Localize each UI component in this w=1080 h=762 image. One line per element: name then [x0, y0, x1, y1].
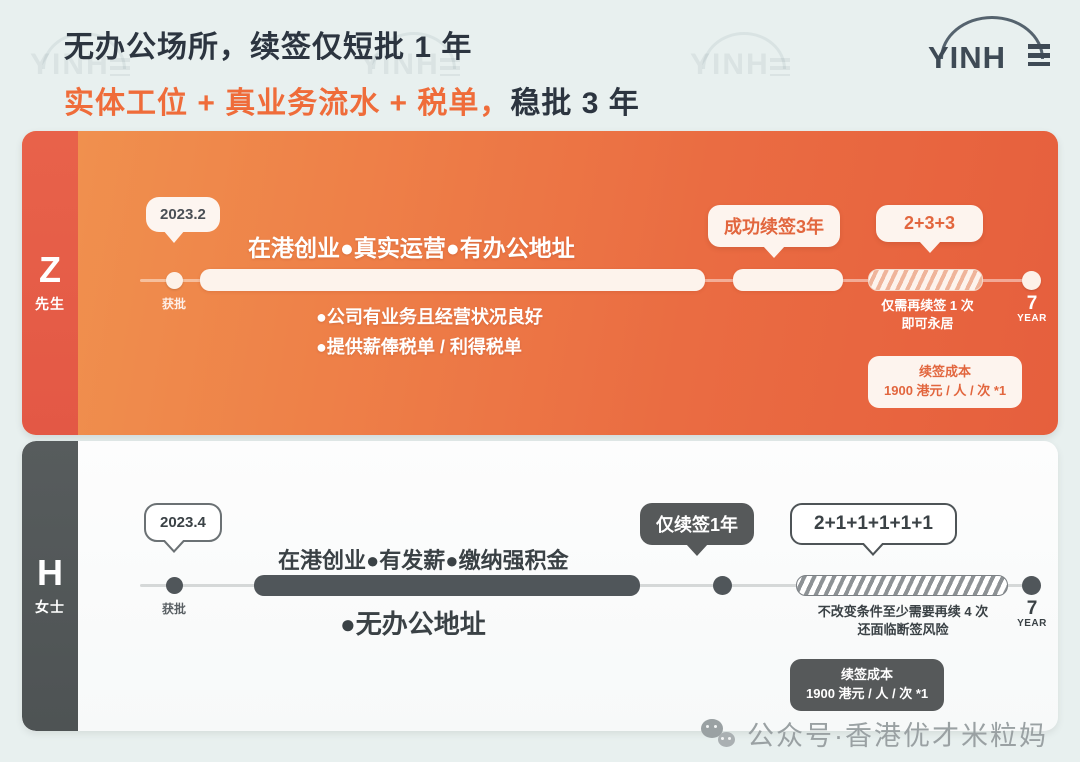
timeline-start-label: 获批	[142, 600, 206, 617]
timeline-start-label: 获批	[142, 295, 206, 312]
timeline-segment-initial	[254, 575, 640, 596]
timeline-segment-future	[796, 575, 1008, 596]
case-tab-z: Z 先生	[22, 131, 78, 435]
timeline-end-dot	[1022, 576, 1041, 595]
case-tab-subtitle: 先生	[35, 294, 65, 314]
page-title-line1: 无办公场所，续签仅短批 1 年	[64, 26, 472, 70]
timeline-end-marker: 7 YEAR	[1006, 294, 1058, 324]
case-tab-subtitle: 女士	[35, 597, 65, 617]
date-bubble-orange: 2023.2	[146, 197, 220, 232]
bubble-renewal-orange: 成功续签3年	[708, 205, 840, 247]
timeline-segment-initial	[200, 269, 705, 291]
timeline-segment-renewal	[733, 269, 843, 291]
logo-bars-icon	[1028, 44, 1050, 66]
footer-credit: 公众号·香港优才米粒妈	[701, 714, 1048, 753]
timeline-stage-orange: 2023.2 获批 7 YEAR 在港创业●真实运营●有办公地址 ●公司有业务且…	[78, 131, 1058, 435]
date-bubble-gray: 2023.4	[144, 503, 222, 542]
footer-text: 公众号·香港优才米粒妈	[747, 714, 1048, 753]
timeline-stage-gray: 2023.4 获批 7 YEAR 在港创业●有发薪●缴纳强积金 ●无办公地址 仅…	[78, 441, 1058, 731]
bubble-pattern-gray: 2+1+1+1+1+1	[790, 503, 957, 545]
timeline-start-dot	[166, 577, 183, 594]
logo-text: YINH	[928, 40, 1006, 76]
timeline-end-unit: YEAR	[1006, 313, 1058, 324]
footer: 公众号·香港优才米粒妈	[0, 704, 1080, 762]
timeline-segment-future	[868, 269, 983, 291]
timeline-start-dot	[166, 272, 183, 289]
bubble-renewal-gray: 仅续签1年	[640, 503, 754, 545]
note-gray-line2: 还面临断签风险	[758, 621, 1048, 639]
timeline-end-number: 7	[1006, 294, 1058, 313]
case-tab-h: H 女士	[22, 441, 78, 731]
timeline-end-dot	[1022, 271, 1041, 290]
case-panel-gray: H 女士 2023.4 获批 7 YEAR 在港创业●有发薪●缴纳强积金 ●无办…	[22, 441, 1058, 731]
case-headline-gray: 在港创业●有发薪●缴纳强积金	[278, 543, 569, 575]
bubble-pattern-orange: 2+3+3	[876, 205, 983, 242]
case-bullet-1: ●公司有业务且经营状况良好	[316, 303, 543, 329]
case-bullet-1: ●无办公地址	[340, 604, 486, 641]
note-gray-line1: 不改变条件至少需要再续 4 次	[758, 603, 1048, 621]
yinhe-logo: YINH	[926, 14, 1054, 80]
cost-value: 1900 港元 / 人 / 次 *1	[884, 382, 1006, 401]
cost-value: 1900 港元 / 人 / 次 *1	[806, 685, 928, 704]
note-orange-line2: 即可永居	[850, 315, 1005, 333]
case-tab-letter: Z	[39, 252, 61, 288]
case-tab-letter: H	[37, 555, 63, 591]
page-title-line2: 实体工位 + 真业务流水 + 税单，稳批 3 年	[64, 78, 640, 122]
timeline-midpoint-dot	[713, 576, 732, 595]
cost-pill-gray: 续签成本 1900 港元 / 人 / 次 *1	[790, 659, 944, 711]
cost-title: 续签成本	[884, 363, 1006, 382]
cost-pill-orange: 续签成本 1900 港元 / 人 / 次 *1	[868, 356, 1022, 408]
header: 无办公场所，续签仅短批 1 年 实体工位 + 真业务流水 + 税单，稳批 3 年…	[0, 0, 1080, 126]
page-title-line2-tail: 稳批 3 年	[510, 87, 639, 120]
note-orange-line1: 仅需再续签 1 次	[850, 297, 1005, 315]
cost-title: 续签成本	[806, 666, 928, 685]
case-headline-orange: 在港创业●真实运营●有办公地址	[248, 229, 575, 263]
case-bullet-2: ●提供薪俸税单 / 利得税单	[316, 333, 522, 359]
page-title-line2-highlight: 实体工位 + 真业务流水 + 税单，	[64, 87, 510, 120]
case-panel-orange: Z 先生 2023.2 获批 7 YEAR 在港创业●真实运营●有办公地址 ●公…	[22, 131, 1058, 435]
wechat-icon	[701, 719, 735, 747]
